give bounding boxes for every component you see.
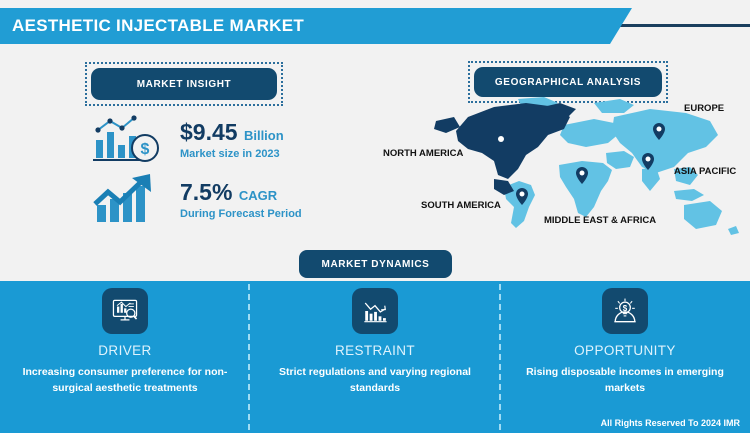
stat-market-size: $ $9.45 Billion Market size in 2023 — [88, 112, 284, 168]
market-dynamics-label: MARKET DYNAMICS — [299, 250, 452, 278]
page-title: AESTHETIC INJECTABLE MARKET — [0, 16, 304, 36]
stat-cagr-unit: CAGR — [239, 188, 277, 203]
world-map: NORTH AMERICA SOUTH AMERICA EUROPE MIDDL… — [398, 95, 750, 245]
market-insight-label: MARKET INSIGHT — [91, 68, 277, 100]
monitor-analytics-search-icon — [102, 288, 148, 334]
stat-market-size-value: $9.45 Billion — [180, 120, 284, 144]
dynamics-description-restraint: Strict regulations and varying regional … — [268, 365, 483, 397]
stat-cagr-caption: During Forecast Period — [180, 208, 302, 220]
dynamics-title-driver: DRIVER — [0, 343, 250, 358]
dynamics-description-opportunity: Rising disposable incomes in emerging ma… — [518, 365, 733, 397]
map-label-south-america: SOUTH AMERICA — [421, 200, 501, 211]
header-banner: AESTHETIC INJECTABLE MARKET — [0, 8, 750, 44]
dynamics-card-driver: DRIVER Increasing consumer preference fo… — [0, 288, 250, 397]
dynamics-card-restraint: RESTRAINT Strict regulations and varying… — [250, 288, 500, 397]
map-label-asia-pacific: ASIA PACIFIC — [674, 166, 736, 177]
dynamics-card-opportunity: $ OPPORTUNITY Rising disposable incomes … — [500, 288, 750, 397]
banner-shape: AESTHETIC INJECTABLE MARKET — [0, 8, 632, 44]
dynamics-title-opportunity: OPPORTUNITY — [500, 343, 750, 358]
map-label-north-america: NORTH AMERICA — [383, 148, 463, 159]
dynamics-description-driver: Increasing consumer preference for non-s… — [18, 365, 233, 397]
lightbulb-dollar-icon: $ — [602, 288, 648, 334]
stat-market-size-caption: Market size in 2023 — [180, 148, 284, 160]
stat-market-size-unit: Billion — [244, 128, 284, 143]
geographical-analysis-label: GEOGRAPHICAL ANALYSIS — [474, 67, 662, 97]
stat-cagr-value: 7.5% CAGR — [180, 180, 302, 204]
map-label-europe: EUROPE — [684, 103, 724, 114]
growth-arrow-chart-icon — [88, 172, 172, 228]
market-dynamics-header: MARKET DYNAMICS — [299, 250, 452, 278]
bar-chart-dollar-icon: $ — [88, 112, 172, 168]
map-label-middle-east-africa: MIDDLE EAST & AFRICA — [544, 215, 656, 226]
declining-bar-chart-icon — [352, 288, 398, 334]
dynamics-title-restraint: RESTRAINT — [250, 343, 500, 358]
stat-cagr: 7.5% CAGR During Forecast Period — [88, 172, 302, 228]
copyright-footer: All Rights Reserved To 2024 IMR — [601, 418, 740, 428]
svg-text:$: $ — [141, 141, 150, 158]
market-insight-header: MARKET INSIGHT — [85, 62, 283, 106]
